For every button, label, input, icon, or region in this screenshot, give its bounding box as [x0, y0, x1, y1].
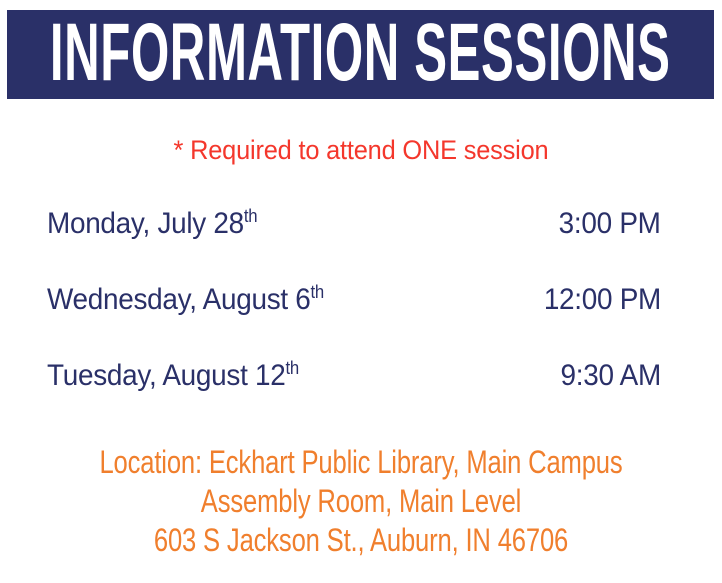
session-date-text: Wednesday, August 6 [47, 283, 311, 316]
required-note: * Required to attend ONE session [22, 133, 701, 167]
header-banner: INFORMATION SESSIONS [7, 10, 714, 99]
location-room: Assembly Room, Main Level [72, 482, 650, 521]
session-list: Monday, July 28th 3:00 PM Wednesday, Aug… [47, 205, 661, 433]
location-venue: Location: Eckhart Public Library, Main C… [72, 443, 650, 482]
flyer-root: INFORMATION SESSIONS * Required to atten… [0, 0, 722, 583]
session-date-text: Tuesday, August 12 [47, 359, 286, 392]
session-row: Tuesday, August 12th 9:30 AM [47, 357, 661, 433]
session-date-ordinal: th [244, 206, 257, 226]
session-row: Monday, July 28th 3:00 PM [47, 205, 661, 281]
session-date-ordinal: th [311, 282, 324, 302]
session-date: Tuesday, August 12th [47, 357, 299, 395]
session-time: 12:00 PM [544, 281, 661, 319]
session-date-text: Monday, July 28 [47, 207, 244, 240]
page-title: INFORMATION SESSIONS [50, 13, 671, 93]
session-time: 9:30 AM [561, 357, 661, 395]
session-date-ordinal: th [286, 358, 299, 378]
session-date: Wednesday, August 6th [47, 281, 324, 319]
session-row: Wednesday, August 6th 12:00 PM [47, 281, 661, 357]
location-block: Location: Eckhart Public Library, Main C… [0, 443, 722, 560]
location-address: 603 S Jackson St., Auburn, IN 46706 [72, 521, 650, 560]
session-time: 3:00 PM [559, 205, 661, 243]
session-date: Monday, July 28th [47, 205, 257, 243]
